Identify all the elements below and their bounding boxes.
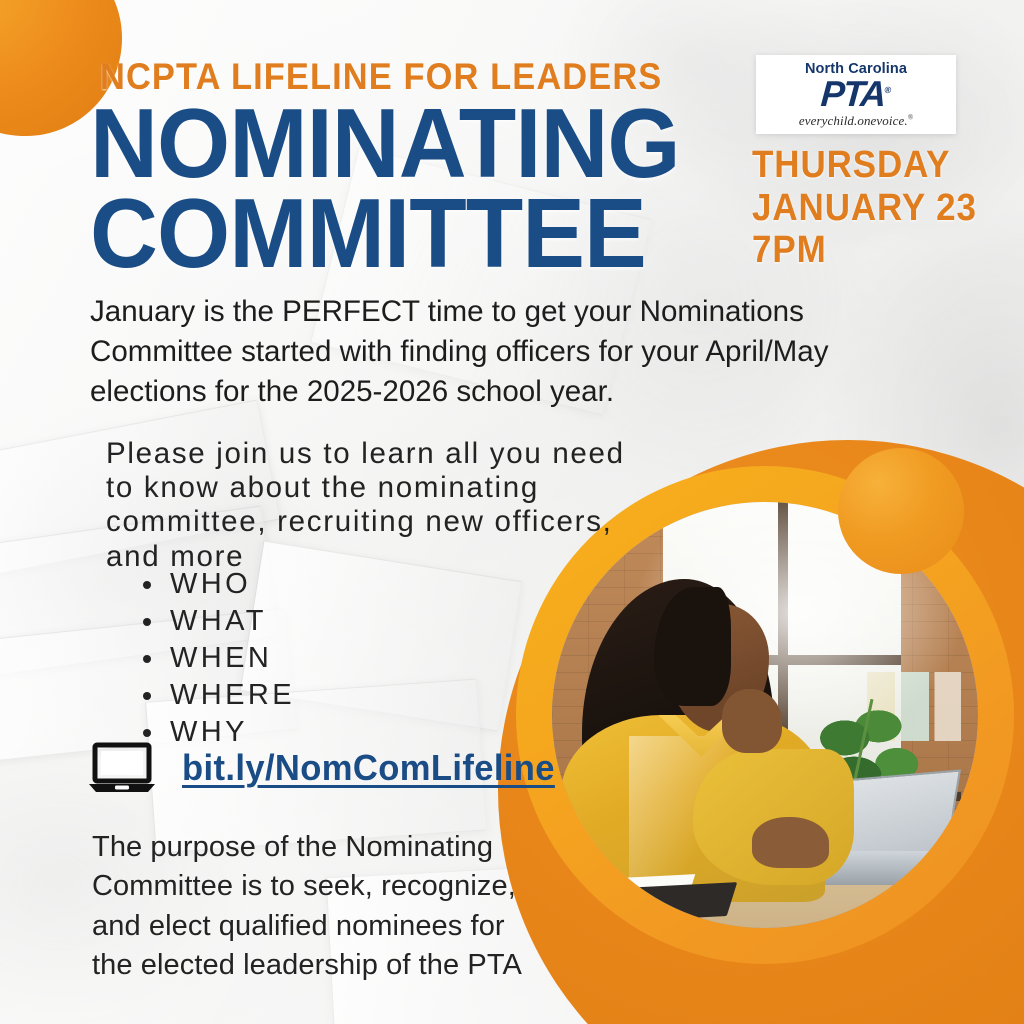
corner-orange-blob-tail bbox=[0, 0, 7, 79]
page-title-line-1: NOMINATING bbox=[90, 98, 680, 188]
list-item: WHERE bbox=[166, 677, 295, 714]
event-datetime: THURSDAY JANUARY 23 7PM bbox=[752, 144, 977, 272]
event-day: THURSDAY bbox=[752, 144, 977, 187]
event-time: 7PM bbox=[752, 229, 977, 272]
accent-orange-circle bbox=[838, 448, 964, 574]
list-item: WHAT bbox=[166, 603, 295, 640]
topics-list: WHO WHAT WHEN WHERE WHY bbox=[122, 566, 295, 752]
laptop-icon bbox=[88, 742, 156, 794]
ncpta-logo: North Carolina PTA® everychild.onevoice.… bbox=[756, 55, 956, 134]
logo-registered-mark: ® bbox=[884, 85, 891, 95]
registration-link-row[interactable]: bit.ly/NomComLifeline bbox=[88, 742, 570, 794]
event-date: JANUARY 23 bbox=[752, 187, 977, 230]
page-title: NOMINATING COMMITTEE bbox=[90, 98, 680, 278]
photo-woman-hand-chin bbox=[722, 689, 782, 753]
logo-acronym-text: PTA bbox=[820, 73, 886, 114]
photo-woman-hand-keyboard bbox=[752, 817, 829, 868]
logo-tagline: everychild.onevoice.® bbox=[799, 114, 913, 127]
registration-link[interactable]: bit.ly/NomComLifeline bbox=[182, 747, 555, 789]
list-item: WHEN bbox=[166, 640, 295, 677]
list-item: WHO bbox=[166, 566, 295, 603]
logo-tagline-registered-mark: ® bbox=[908, 114, 913, 122]
logo-tagline-text: everychild.onevoice. bbox=[799, 113, 908, 128]
purpose-paragraph: The purpose of the Nominating Committee … bbox=[92, 828, 522, 986]
page-title-line-2: COMMITTEE bbox=[90, 188, 680, 278]
intro-paragraph: January is the PERFECT time to get your … bbox=[90, 292, 908, 412]
poster-canvas: NCPTA LIFELINE FOR LEADERS NOMINATING CO… bbox=[0, 0, 1024, 1024]
join-paragraph: Please join us to learn all you need to … bbox=[106, 437, 626, 574]
logo-acronym: PTA® bbox=[820, 77, 892, 111]
photo-desk-phone bbox=[614, 883, 737, 923]
